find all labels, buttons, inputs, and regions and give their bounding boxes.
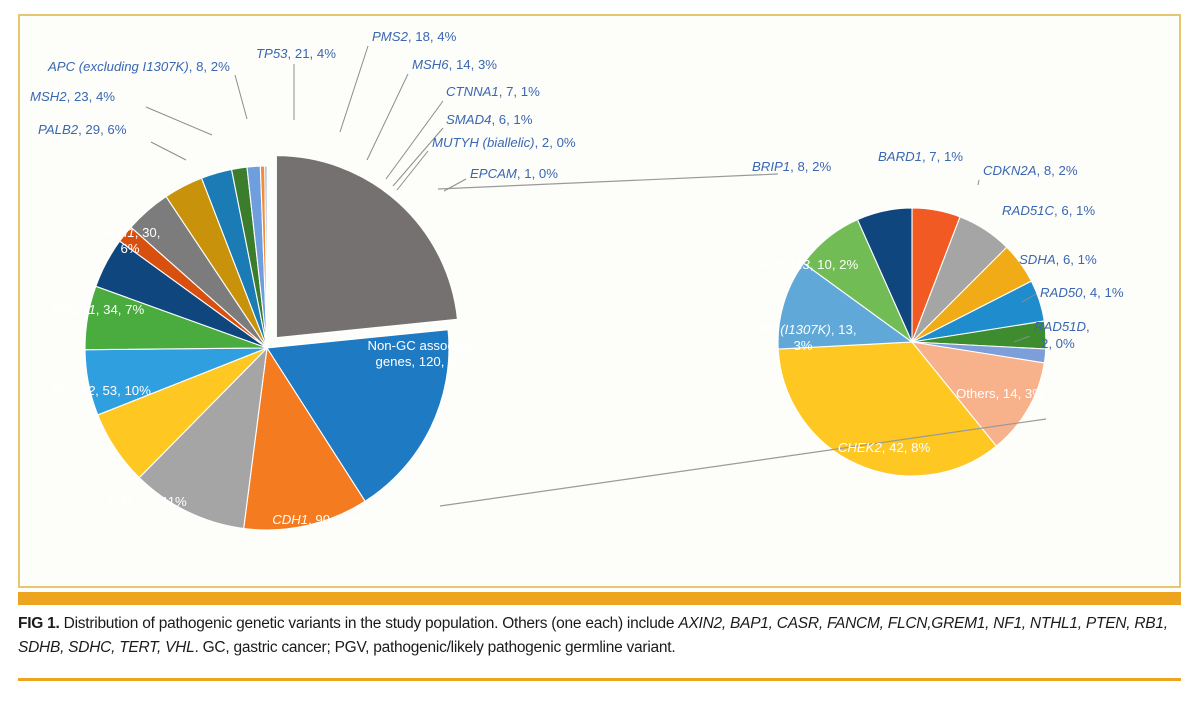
label-non-gc: Non-GC associatedgenes, 120, 23%: [367, 338, 482, 369]
label-ctnna1: CTNNA1, 7, 1%: [446, 84, 540, 99]
label-palb2-leader: [151, 142, 186, 160]
accent-rule-bottom: [18, 678, 1181, 681]
label-brca2: BRCA2, 53, 10%: [51, 383, 151, 398]
label-smad4: SMAD4, 6, 1%: [446, 112, 533, 127]
label-msh6: MSH6, 14, 3%: [412, 57, 497, 72]
label-epcam-leader: [444, 179, 466, 191]
label-atm: ATM, 57, 11%: [104, 494, 187, 509]
label-rad51d-2: 2, 0%: [1041, 336, 1075, 351]
figure-caption-area: FIG 1. Distribution of pathogenic geneti…: [18, 612, 1181, 674]
figure-label: FIG 1.: [18, 615, 60, 632]
label-pms2: PMS2, 18, 4%: [372, 29, 457, 44]
caption-text-2: . GC, gastric cancer; PGV, pathogenic/li…: [195, 639, 676, 656]
label-pms2-leader: [340, 46, 368, 132]
label-cdkn2a-leader: [978, 180, 979, 185]
label-hoxb13: HOXB13, 10, 2%: [758, 257, 859, 272]
label-chek2: CHEK2, 42, 8%: [838, 440, 931, 455]
label-mutyh: MUTYH (biallelic), 2, 0%: [432, 135, 576, 150]
label-bard1: BARD1, 7, 1%: [878, 149, 963, 164]
label-cdh1: CDH1, 90, 18%: [272, 512, 364, 527]
label-apc-ex-leader: [235, 75, 247, 119]
label-msh2: MSH2, 23, 4%: [30, 89, 115, 104]
pie-slice-non-gc-associated-genes[interactable]: [276, 156, 457, 338]
label-msh2-leader: [146, 107, 212, 135]
label-rad51c: RAD51C, 6, 1%: [1002, 203, 1095, 218]
label-rad51d-1: RAD51D,: [1034, 319, 1090, 334]
label-cdkn2a: CDKN2A, 8, 2%: [983, 163, 1078, 178]
caption-text-1: Distribution of pathogenic genetic varia…: [64, 615, 679, 632]
pie-chart-figure: Non-GC associatedgenes, 120, 23%CDH1, 90…: [0, 0, 1199, 588]
figure-caption: FIG 1. Distribution of pathogenic geneti…: [18, 612, 1181, 660]
label-epcam: EPCAM, 1, 0%: [470, 166, 558, 181]
accent-bar-top: [18, 592, 1181, 605]
label-apc-ex: APC (excluding I1307K), 8, 2%: [47, 59, 230, 74]
label-msh6-leader: [367, 74, 408, 160]
label-rad50: RAD50, 4, 1%: [1040, 285, 1124, 300]
label-tp53: TP53, 21, 4%: [256, 46, 336, 61]
label-brca1: BRCA1, 34, 7%: [52, 302, 145, 317]
secondary-pie-slices: [778, 208, 1046, 476]
label-brip1: BRIP1, 8, 2%: [752, 159, 831, 174]
label-palb2: PALB2, 29, 6%: [38, 122, 127, 137]
label-sdha: SDHA, 6, 1%: [1019, 252, 1097, 267]
caption-genes-1: AXIN2, BAP1, CASR, FANCM, FLCN,: [678, 615, 931, 632]
label-others: Others, 14, 3%: [956, 386, 1044, 401]
